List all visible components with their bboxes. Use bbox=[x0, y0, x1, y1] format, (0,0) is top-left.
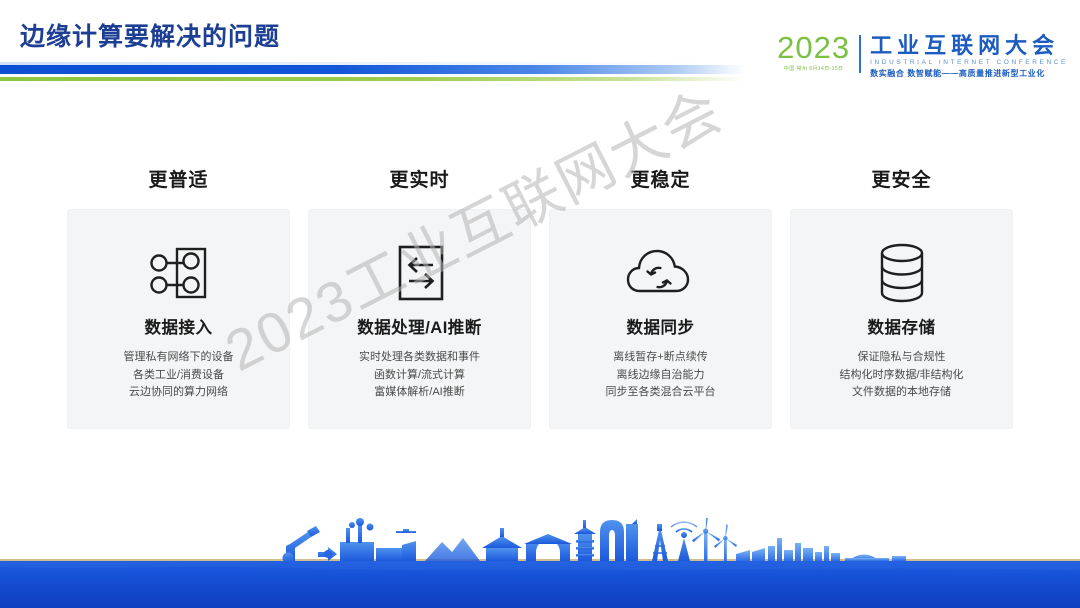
card-line: 管理私有网络下的设备 bbox=[124, 349, 234, 367]
database-cylinder-icon bbox=[878, 240, 926, 306]
card-line: 函数计算/流式计算 bbox=[359, 367, 480, 385]
card-title: 数据存储 bbox=[868, 314, 936, 338]
logo-name-cn: 工业互联网大会 bbox=[870, 34, 1068, 57]
column-heading: 更安全 bbox=[791, 165, 1012, 192]
card-line: 云边协同的算力网络 bbox=[124, 384, 234, 402]
footer-skyline bbox=[0, 518, 1080, 608]
column-heading: 更实时 bbox=[309, 165, 530, 192]
card-line: 保证隐私与合规性 bbox=[839, 349, 963, 367]
network-nodes-icon bbox=[147, 240, 211, 306]
column-data-access: 更普适 数据接入 管理私有网络下的设备 各类工业/消费设备 bbox=[68, 165, 289, 428]
title-rule-green bbox=[0, 77, 745, 81]
card-line: 文件数据的本地存储 bbox=[839, 384, 963, 402]
card-description: 实时处理各类数据和事件 函数计算/流式计算 富媒体解析/AI推断 bbox=[359, 349, 480, 402]
card-title: 数据接入 bbox=[145, 314, 213, 338]
column-heading: 更稳定 bbox=[550, 165, 771, 192]
logo-name-block: 工业互联网大会 INDUSTRIAL INTERNET CONFERENCE 数… bbox=[870, 33, 1068, 79]
card-line: 离线暂存+断点续传 bbox=[606, 349, 716, 367]
card-line: 离线边缘自治能力 bbox=[606, 367, 716, 385]
column-data-processing: 更实时 数据处理/AI推断 实时处理各类数据和事件 函数计算/流式计算 富媒体解… bbox=[309, 165, 530, 428]
card-row: 更普适 数据接入 管理私有网络下的设备 各类工业/消费设备 bbox=[68, 165, 1012, 428]
logo-year-block: 2023 中国·常州 8月14日-15日 bbox=[777, 33, 859, 72]
bidirectional-arrows-icon bbox=[391, 240, 449, 306]
card-line: 富媒体解析/AI推断 bbox=[359, 384, 480, 402]
logo-name-en: INDUSTRIAL INTERNET CONFERENCE bbox=[870, 59, 1068, 66]
slide-canvas: 边缘计算要解决的问题 2023 中国·常州 8月14日-15日 工业互联网大会 … bbox=[0, 0, 1080, 608]
card-line: 结构化时序数据/非结构化 bbox=[839, 367, 963, 385]
card-line: 各类工业/消费设备 bbox=[124, 367, 234, 385]
card-description: 管理私有网络下的设备 各类工业/消费设备 云边协同的算力网络 bbox=[124, 349, 234, 402]
card-title: 数据同步 bbox=[627, 314, 695, 338]
logo-year: 2023 bbox=[777, 33, 850, 63]
card-line: 实时处理各类数据和事件 bbox=[359, 349, 480, 367]
column-data-storage: 更安全 数据存储 保证隐私与合规性 结构化时序数据/非结构化 文件数据的本地存储 bbox=[791, 165, 1012, 428]
logo-tagline-cn: 数实融合 数智赋能——高质量推进新型工业化 bbox=[870, 68, 1068, 79]
skyline-graphic bbox=[0, 518, 1080, 608]
column-data-sync: 更稳定 数据同步 离线暂存+断点续传 离线边缘自治能力 同步至各类混合云平台 bbox=[550, 165, 771, 428]
page-title: 边缘计算要解决的问题 bbox=[20, 17, 280, 53]
card-data-access[interactable]: 数据接入 管理私有网络下的设备 各类工业/消费设备 云边协同的算力网络 bbox=[68, 210, 289, 428]
card-title: 数据处理/AI推断 bbox=[357, 314, 482, 338]
column-heading: 更普适 bbox=[68, 165, 289, 192]
title-rule-blue bbox=[0, 65, 745, 74]
logo-divider bbox=[859, 35, 861, 73]
card-data-storage[interactable]: 数据存储 保证隐私与合规性 结构化时序数据/非结构化 文件数据的本地存储 bbox=[791, 210, 1012, 428]
logo-year-subtitle: 中国·常州 8月14日-15日 bbox=[777, 65, 850, 72]
card-description: 离线暂存+断点续传 离线边缘自治能力 同步至各类混合云平台 bbox=[606, 349, 716, 402]
card-data-processing[interactable]: 数据处理/AI推断 实时处理各类数据和事件 函数计算/流式计算 富媒体解析/AI… bbox=[309, 210, 530, 428]
card-data-sync[interactable]: 数据同步 离线暂存+断点续传 离线边缘自治能力 同步至各类混合云平台 bbox=[550, 210, 771, 428]
conference-logo: 2023 中国·常州 8月14日-15日 工业互联网大会 INDUSTRIAL … bbox=[777, 33, 1068, 79]
cloud-sync-icon bbox=[626, 240, 696, 306]
card-description: 保证隐私与合规性 结构化时序数据/非结构化 文件数据的本地存储 bbox=[839, 349, 963, 402]
card-line: 同步至各类混合云平台 bbox=[606, 384, 716, 402]
